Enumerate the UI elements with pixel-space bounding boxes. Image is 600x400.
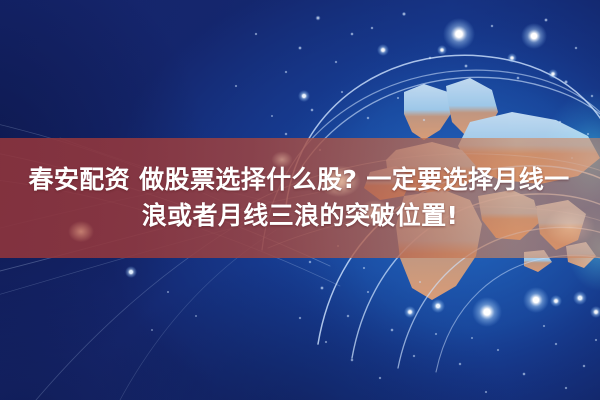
banner: 春安配资 做股票选择什么股? 一定要选择月线一 浪或者月线三浪的突破位置! bbox=[0, 0, 600, 400]
headline: 春安配资 做股票选择什么股? 一定要选择月线一 浪或者月线三浪的突破位置! bbox=[0, 138, 600, 258]
headline-line-1: 春安配资 做股票选择什么股? 一定要选择月线一 bbox=[28, 164, 571, 196]
headline-line-2: 浪或者月线三浪的突破位置! bbox=[142, 200, 459, 232]
